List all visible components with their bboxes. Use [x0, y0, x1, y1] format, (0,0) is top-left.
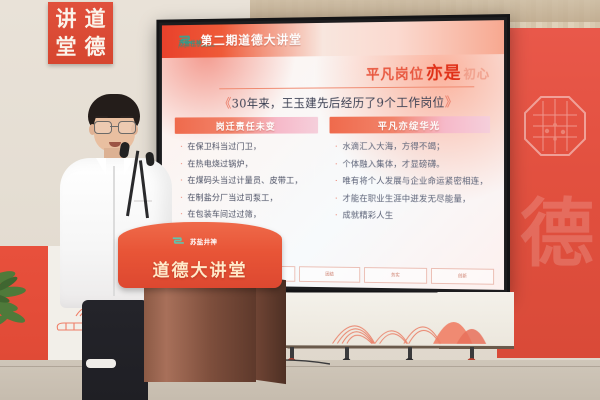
- bullet-text: 个体融入集体，才显磅礴。: [342, 159, 444, 169]
- subtitle-open-bracket: 《: [219, 97, 231, 112]
- bullet-text: 成就精彩人生: [342, 211, 393, 221]
- bullet-dot-icon: ·: [335, 177, 338, 187]
- bullet-item: · 在煤码头当过计量员、皮带工，: [180, 176, 316, 186]
- bullet-dot-icon: ·: [335, 142, 338, 152]
- slide-brand-block: 苏盐井神 jiangsu salt & chemical 第二期道德大讲堂: [178, 29, 301, 49]
- slide-subtitle: 《30年来，王玉建先后经历了9个工作岗位》: [219, 86, 474, 111]
- footer-cell: 务实: [364, 267, 426, 284]
- plaque-char-4: 德: [81, 34, 109, 61]
- podium: 苏盐井神 道德大讲堂: [118, 216, 286, 366]
- bullet-item: · 水滴汇入大海，方得不竭；: [335, 142, 488, 152]
- lattice-window-ornament: [523, 95, 587, 157]
- podium-headline: 道德大讲堂: [118, 256, 282, 281]
- decorative-wall-character: 德: [520, 200, 594, 268]
- bullet-item: · 在制盐分厂当过司泵工，: [180, 193, 316, 203]
- bullet-text: 在保卫科当过门卫，: [187, 142, 261, 152]
- bullet-item: · 成就精彩人生: [335, 211, 488, 222]
- bullet-text: 在热电烧过锅炉，: [187, 159, 252, 169]
- slide-column-right: 平凡亦绽华光 · 水滴汇入大海，方得不竭； · 个体融入集体，才显磅礴。 · 唯: [329, 116, 490, 266]
- microphone-head-2: [145, 152, 155, 167]
- footer-cell: 创新: [431, 268, 494, 285]
- bullet-item: · 在热电烧过锅炉，: [180, 159, 316, 169]
- bullet-dot-icon: ·: [180, 193, 183, 203]
- subtitle-text: 王玉建先后经历了9个工作岗位: [282, 95, 445, 110]
- plaque-char-3: 堂: [52, 34, 80, 61]
- subtitle-lead: 30年来，: [232, 97, 282, 111]
- wall-plaque-moral-lecture-hall: 讲 道 堂 德: [48, 2, 113, 64]
- column-right-bullets: · 水滴汇入大海，方得不竭； · 个体融入集体，才显磅礴。 · 唯有将个人发展与…: [329, 140, 490, 231]
- bullet-dot-icon: ·: [180, 159, 183, 169]
- footer-cell: 团结: [299, 266, 361, 283]
- bullet-item: · 唯有将个人发展与企业命运紧密相连，: [335, 177, 488, 187]
- speaker-hair-front: [89, 98, 139, 118]
- slide-headline: 平凡岗位 亦是 初心: [366, 58, 490, 84]
- photo-scene: 德 讲 道 堂 德 苏盐井神: [0, 0, 600, 400]
- potted-plant: [0, 262, 50, 342]
- bullet-item: · 在保卫科当过门卫，: [180, 142, 316, 152]
- bullet-dot-icon: ·: [180, 142, 183, 152]
- bullet-dot-icon: ·: [335, 211, 338, 221]
- speaker-shoe: [86, 359, 116, 368]
- podium-company-name: 苏盐井神: [190, 236, 217, 246]
- bullet-dot-icon: ·: [335, 159, 338, 169]
- company-logo-icon: 苏盐井神 jiangsu salt & chemical: [178, 32, 196, 49]
- bullet-text: 才能在职业生涯中迸发无尽能量，: [342, 194, 470, 205]
- bullet-text: 唯有将个人发展与企业命运紧密相连，: [342, 177, 488, 187]
- speaker-shirt-placket: [113, 166, 115, 296]
- headline-part-2: 亦是: [426, 59, 461, 84]
- podium-side: [256, 276, 286, 384]
- podium-front-panel: 苏盐井神 道德大讲堂: [118, 222, 282, 288]
- bullet-text: 在煤码头当过计量员、皮带工，: [187, 176, 302, 186]
- headline-part-3: 初心: [463, 63, 490, 82]
- column-left-header: 岗迁责任未变: [175, 117, 318, 134]
- podium-company-logo-icon: [172, 237, 187, 245]
- bullet-text: 在制盐分厂当过司泵工，: [187, 193, 277, 203]
- bullet-item: · 个体融入集体，才显磅礴。: [335, 159, 488, 169]
- bullet-dot-icon: ·: [335, 194, 338, 204]
- podium-body: [144, 286, 256, 382]
- plaque-char-2: 道: [81, 6, 109, 33]
- subtitle-close-bracket: 》: [445, 95, 458, 110]
- company-logo-sub: jiangsu salt & chemical: [178, 44, 214, 48]
- slide-banner-title: 第二期道德大讲堂: [201, 29, 302, 49]
- headline-part-1: 平凡岗位: [366, 64, 424, 84]
- column-right-header: 平凡亦绽华光: [329, 116, 490, 133]
- speaker-glasses-icon: [94, 121, 136, 132]
- speaker-collar-left: [96, 158, 106, 175]
- bullet-item: · 才能在职业生涯中迸发无尽能量，: [335, 194, 488, 205]
- podium-logo-block: 苏盐井神: [172, 236, 217, 246]
- plaque-char-1: 讲: [52, 6, 80, 33]
- bullet-dot-icon: ·: [180, 176, 183, 186]
- bullet-text: 水滴汇入大海，方得不竭；: [342, 142, 444, 152]
